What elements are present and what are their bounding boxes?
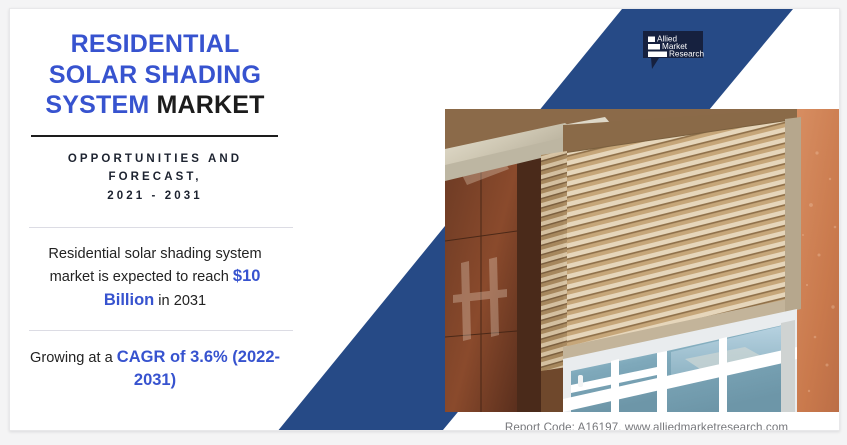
logo-text-line3: Research (669, 50, 704, 59)
title-plain: MARKET (157, 91, 265, 119)
report-footer: Report Code: A16197, www.alliedmarketres… (445, 421, 840, 431)
report-summary-panel: RESIDENTIAL SOLAR SHADING SYSTEM MARKET … (10, 23, 300, 407)
page-title: RESIDENTIAL SOLAR SHADING SYSTEM MARKET (10, 23, 300, 121)
infographic-banner: Allied Market Research RESIDENTIAL SOLAR… (0, 0, 847, 445)
cagr-prefix: Growing at a (30, 350, 117, 366)
subtitle-line-3: 2021 - 2031 (32, 187, 278, 206)
allied-market-research-logo: Allied Market Research (637, 28, 717, 72)
market-size-suffix: in 2031 (154, 293, 206, 309)
market-size-prefix: Residential solar shading system market … (48, 246, 261, 285)
market-size-statement: Residential solar shading system market … (10, 244, 300, 312)
subtitle-line-1: OPPORTUNITIES AND (32, 150, 278, 169)
divider-light-bottom (29, 330, 293, 331)
subtitle-line-2: FORECAST, (32, 168, 278, 187)
banner-card: Allied Market Research RESIDENTIAL SOLAR… (9, 8, 840, 431)
divider-dark (31, 135, 278, 137)
product-photo (445, 109, 840, 412)
cagr-value: CAGR of 3.6% (2022-2031) (117, 348, 280, 389)
divider-light-top (29, 227, 293, 228)
cagr-statement: Growing at a CAGR of 3.6% (2022-2031) (10, 346, 300, 393)
report-subtitle: OPPORTUNITIES AND FORECAST, 2021 - 2031 (10, 150, 300, 206)
